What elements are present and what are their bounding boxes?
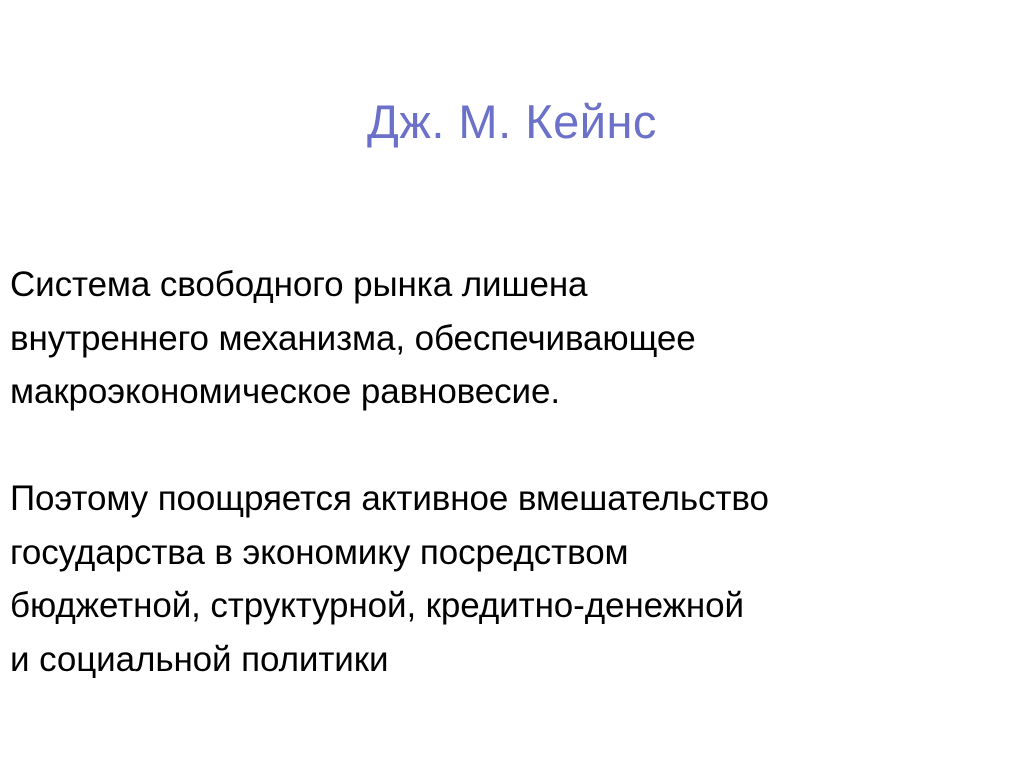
body-line: государства в экономику посредством [10, 526, 1018, 580]
paragraph-spacer [10, 419, 1018, 473]
presentation-slide: Дж. М. Кейнс Система свободного рынка ли… [0, 0, 1024, 767]
body-line: бюджетной, структурной, кредитно-денежно… [10, 579, 1018, 633]
body-paragraph-2: Поэтому поощряется активное вмешательств… [10, 472, 1018, 686]
body-line: и социальной политики [10, 633, 1018, 687]
body-line: Система свободного рынка лишена [10, 258, 1018, 312]
page-title: Дж. М. Кейнс [0, 93, 1024, 151]
body-line: Поэтому поощряется активное вмешательств… [10, 472, 1018, 526]
slide-body-text: Система свободного рынка лишена внутренн… [10, 258, 1018, 686]
body-paragraph-1: Система свободного рынка лишена внутренн… [10, 258, 1018, 419]
body-line: макроэкономическое равновесие. [10, 365, 1018, 419]
body-line: внутреннего механизма, обеспечивающее [10, 312, 1018, 366]
